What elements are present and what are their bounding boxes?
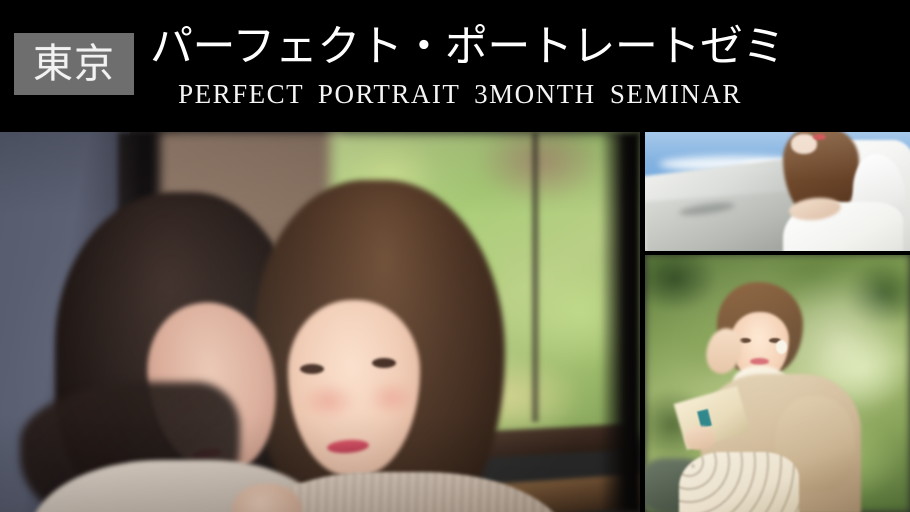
banner-header: 東京 パーフェクト・ポートレートゼミ PERFECT PORTRAIT 3MON… xyxy=(0,0,910,132)
photo-woman-white-dress-seaside xyxy=(645,132,910,254)
photo-gutter-vertical xyxy=(640,132,645,512)
photo-gutter-horizontal xyxy=(640,251,910,255)
photo-color-grade xyxy=(645,132,910,254)
city-badge: 東京 xyxy=(14,33,134,95)
photo-grid xyxy=(0,132,910,512)
photo-main-two-women-window xyxy=(0,132,640,512)
seminar-title-english: PERFECT PORTRAIT 3MONTH SEMINAR xyxy=(150,77,770,111)
photo-color-grade xyxy=(0,132,640,512)
seminar-title-japanese: パーフェクト・ポートレートゼミ xyxy=(150,20,770,74)
photo-color-grade xyxy=(645,254,910,512)
title-block: パーフェクト・ポートレートゼミ PERFECT PORTRAIT 3MONTH … xyxy=(150,20,770,111)
city-badge-label: 東京 xyxy=(33,44,115,84)
photo-woman-book-garden xyxy=(645,254,910,512)
seminar-banner: 東京 パーフェクト・ポートレートゼミ PERFECT PORTRAIT 3MON… xyxy=(0,0,910,512)
